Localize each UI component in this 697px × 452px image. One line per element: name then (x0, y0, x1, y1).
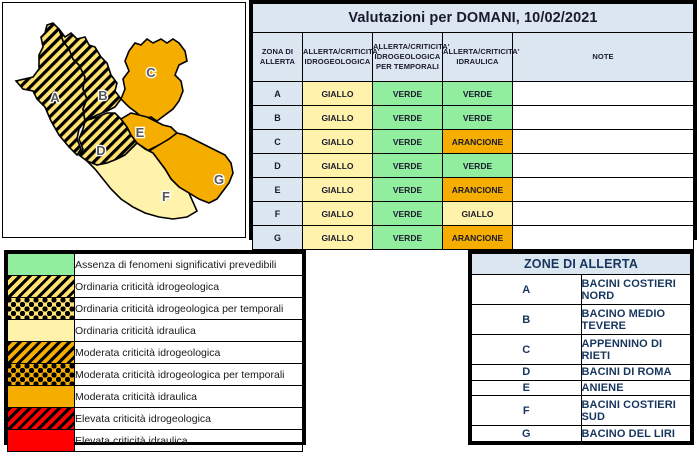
row-idrogeologica: GIALLO (303, 106, 373, 130)
row-zona: F (253, 202, 303, 226)
list-item: Moderata criticità idraulica (8, 386, 303, 408)
row-idraulica: VERDE (443, 106, 513, 130)
row-temporali: VERDE (373, 106, 443, 130)
zone-key: A (472, 275, 582, 305)
table-row: A BACINI COSTIERI NORD (472, 275, 691, 305)
list-item: Moderata criticità idrogeologica per tem… (8, 364, 303, 386)
map-label-F: F (162, 189, 170, 204)
row-idrogeologica: GIALLO (303, 226, 373, 250)
row-zona: C (253, 130, 303, 154)
col-header-idraulica-line2: IDRAULICA (456, 57, 498, 66)
row-zona: A (253, 82, 303, 106)
zone-key: B (472, 305, 582, 335)
table-row: F GIALLO VERDE GIALLO (253, 202, 694, 226)
list-item: Elevata criticità idraulica (8, 430, 303, 452)
legend-swatch-arancione (8, 386, 75, 408)
lazio-alert-zones-map: A B C D E F G (3, 3, 245, 237)
col-header-idraulica: ALLERTA/CRITICITA' IDRAULICA (443, 33, 513, 82)
list-item: Elevata criticità idrogeologica (8, 408, 303, 430)
zone-name: BACINI DI ROMA (581, 365, 691, 381)
col-header-zona: ZONA DI ALLERTA (253, 33, 303, 82)
row-idrogeologica: GIALLO (303, 178, 373, 202)
top-section: A B C D E F G Valutazioni per DOMANI, 10… (0, 0, 697, 240)
col-header-idrogeologica-line1: ALLERTA/CRITICITA' (303, 47, 380, 56)
row-temporali: VERDE (373, 202, 443, 226)
legend-label: Moderata criticità idrogeologica per tem… (75, 364, 303, 386)
legend-swatch-verde (8, 254, 75, 276)
row-temporali: VERDE (373, 130, 443, 154)
table-row: E GIALLO VERDE ARANCIONE (253, 178, 694, 202)
legend-label: Ordinaria criticità idraulica (75, 320, 303, 342)
zone-key: G (472, 426, 582, 442)
row-zona: B (253, 106, 303, 130)
col-header-idrogeologica-line2: IDROGEOLOGICA (305, 57, 371, 66)
legend-swatch-giallo (8, 320, 75, 342)
row-zona: G (253, 226, 303, 250)
row-idraulica: VERDE (443, 82, 513, 106)
col-header-idraulica-line1: ALLERTA/CRITICITA' (443, 47, 520, 56)
row-note (513, 154, 694, 178)
table-row: C GIALLO VERDE ARANCIONE (253, 130, 694, 154)
col-header-note: NOTE (513, 33, 694, 82)
legend-swatch-arancione-dot (8, 364, 75, 386)
zone-di-allerta-panel: ZONE DI ALLERTA A BACINI COSTIERI NORD B… (468, 250, 694, 445)
row-temporali: VERDE (373, 178, 443, 202)
row-note (513, 106, 694, 130)
map-zone-C[interactable] (121, 39, 187, 121)
table-row: B GIALLO VERDE VERDE (253, 106, 694, 130)
col-header-temporali-line3: PER TEMPORALI (376, 62, 439, 71)
list-item: Ordinaria criticità idraulica (8, 320, 303, 342)
zone-di-allerta-table: ZONE DI ALLERTA A BACINI COSTIERI NORD B… (471, 253, 691, 442)
table-row: B BACINO MEDIO TEVERE (472, 305, 691, 335)
map-label-A: A (50, 90, 60, 105)
row-idraulica: GIALLO (443, 202, 513, 226)
zone-name: BACINO MEDIO TEVERE (581, 305, 691, 335)
zone-key: F (472, 396, 582, 426)
zone-di-allerta-title: ZONE DI ALLERTA (472, 254, 691, 275)
legend-label: Elevata criticità idrogeologica (75, 408, 303, 430)
legend-swatch-giallo-diag (8, 276, 75, 298)
table-row: F BACINI COSTIERI SUD (472, 396, 691, 426)
row-note (513, 226, 694, 250)
col-header-temporali: ALLERTA/CRITICITA' IDROGEOLOGICA PER TEM… (373, 33, 443, 82)
zone-key: C (472, 335, 582, 365)
legend-label: Assenza di fenomeni significativi preved… (75, 254, 303, 276)
map-label-C: C (146, 65, 156, 80)
map-label-E: E (136, 125, 145, 140)
zone-key: E (472, 380, 582, 396)
legend-panel: Assenza di fenomeni significativi preved… (4, 250, 306, 445)
table-row: G BACINO DEL LIRI (472, 426, 691, 442)
row-idrogeologica: GIALLO (303, 154, 373, 178)
table-row: D BACINI DI ROMA (472, 365, 691, 381)
zone-name: BACINO DEL LIRI (581, 426, 691, 442)
row-temporali: VERDE (373, 226, 443, 250)
col-header-zona-line2: ALLERTA (260, 57, 295, 66)
valutazioni-table: Valutazioni per DOMANI, 10/02/2021 ZONA … (252, 3, 694, 250)
row-note (513, 202, 694, 226)
col-header-temporali-line1: ALLERTA/CRITICITA' (373, 42, 450, 51)
table-row: G GIALLO VERDE ARANCIONE (253, 226, 694, 250)
zone-name: APPENNINO DI RIETI (581, 335, 691, 365)
row-note (513, 82, 694, 106)
row-zona: E (253, 178, 303, 202)
row-note (513, 178, 694, 202)
map-label-B: B (98, 88, 107, 103)
row-idraulica: ARANCIONE (443, 226, 513, 250)
row-idrogeologica: GIALLO (303, 202, 373, 226)
row-note (513, 130, 694, 154)
list-item: Assenza di fenomeni significativi preved… (8, 254, 303, 276)
zone-name: BACINI COSTIERI NORD (581, 275, 691, 305)
table-row: E ANIENE (472, 380, 691, 396)
legend-label: Ordinaria criticità idrogeologica (75, 276, 303, 298)
map-panel: A B C D E F G (2, 2, 246, 238)
legend-swatch-rosso (8, 430, 75, 452)
legend-label: Ordinaria criticità idrogeologica per te… (75, 298, 303, 320)
zone-name: ANIENE (581, 380, 691, 396)
legend-label: Elevata criticità idraulica (75, 430, 303, 452)
col-header-temporali-line2: IDROGEOLOGICA (375, 52, 441, 61)
legend-table: Assenza di fenomeni significativi preved… (7, 253, 303, 452)
row-temporali: VERDE (373, 82, 443, 106)
valutazioni-panel: Valutazioni per DOMANI, 10/02/2021 ZONA … (249, 0, 697, 240)
row-idrogeologica: GIALLO (303, 82, 373, 106)
table-row: D GIALLO VERDE VERDE (253, 154, 694, 178)
col-header-idrogeologica: ALLERTA/CRITICITA' IDROGEOLOGICA (303, 33, 373, 82)
table-row: C APPENNINO DI RIETI (472, 335, 691, 365)
legend-swatch-rosso-diag (8, 408, 75, 430)
zone-key: D (472, 365, 582, 381)
map-label-D: D (96, 143, 105, 158)
row-idrogeologica: GIALLO (303, 130, 373, 154)
list-item: Ordinaria criticità idrogeologica per te… (8, 298, 303, 320)
list-item: Moderata criticità idrogeologica (8, 342, 303, 364)
row-zona: D (253, 154, 303, 178)
map-label-G: G (214, 172, 224, 187)
legend-label: Moderata criticità idrogeologica (75, 342, 303, 364)
valutazioni-title: Valutazioni per DOMANI, 10/02/2021 (253, 4, 694, 33)
legend-swatch-giallo-dot (8, 298, 75, 320)
legend-label: Moderata criticità idraulica (75, 386, 303, 408)
legend-swatch-arancione-diag (8, 342, 75, 364)
row-idraulica: ARANCIONE (443, 178, 513, 202)
list-item: Ordinaria criticità idrogeologica (8, 276, 303, 298)
col-header-zona-line1: ZONA DI (262, 47, 293, 56)
zone-name: BACINI COSTIERI SUD (581, 396, 691, 426)
row-idraulica: VERDE (443, 154, 513, 178)
row-temporali: VERDE (373, 154, 443, 178)
table-row: A GIALLO VERDE VERDE (253, 82, 694, 106)
row-idraulica: ARANCIONE (443, 130, 513, 154)
